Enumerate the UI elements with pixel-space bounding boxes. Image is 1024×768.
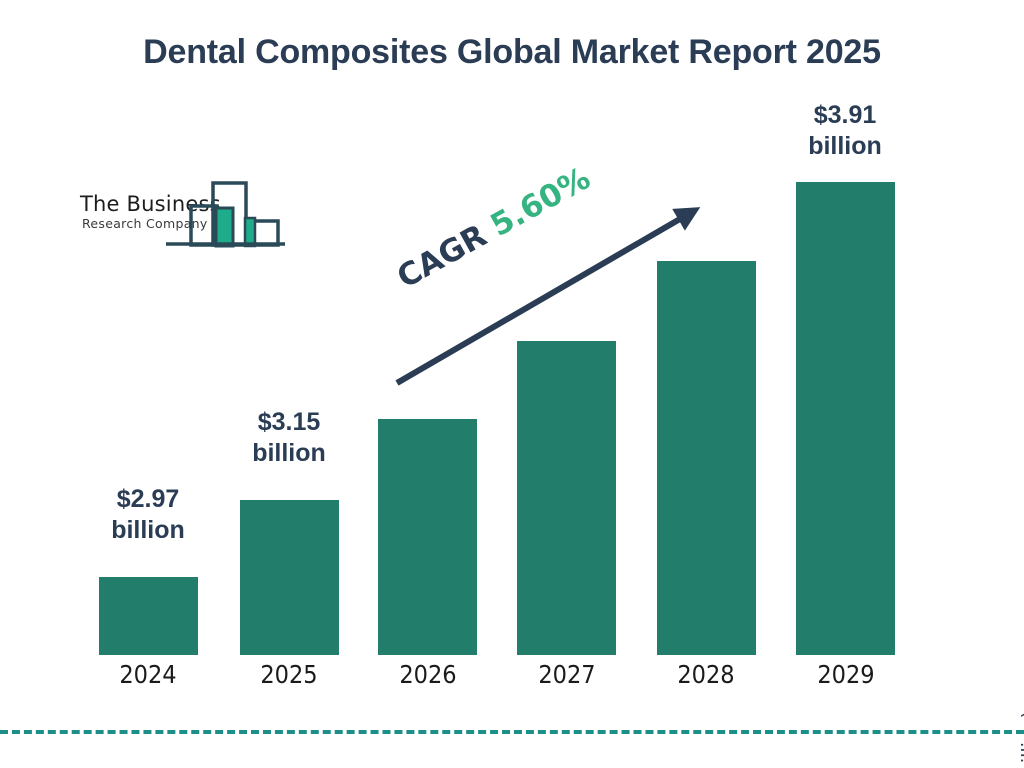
value-label-2025: $3.15 billion <box>224 407 354 468</box>
value-label-2024-amount: $2.97 <box>83 484 213 515</box>
bar-chart-plot: $2.97 billion $3.15 billion $3.91 billio… <box>0 0 1024 768</box>
xtick-2029: 2029 <box>786 660 906 689</box>
value-label-2025-amount: $3.15 <box>224 407 354 438</box>
bar-2025 <box>240 500 339 655</box>
bar-2026 <box>378 419 477 655</box>
bar-2028 <box>657 261 756 655</box>
value-label-2029-unit: billion <box>780 131 910 162</box>
xtick-2027: 2027 <box>507 660 627 689</box>
value-label-2029-amount: $3.91 <box>780 100 910 131</box>
chart-canvas: Dental Composites Global Market Report 2… <box>0 0 1024 768</box>
xtick-2028: 2028 <box>646 660 766 689</box>
cagr-annotation: CAGR 5.60% <box>391 160 596 295</box>
xtick-2026: 2026 <box>368 660 488 689</box>
cagr-label: CAGR <box>391 218 492 296</box>
bar-2029 <box>796 182 895 655</box>
y-axis-title: Market Size (in USD billion) <box>1018 660 1024 768</box>
value-label-2024: $2.97 billion <box>83 484 213 545</box>
bar-2027 <box>517 341 616 655</box>
xtick-2024: 2024 <box>88 660 208 689</box>
xtick-2025: 2025 <box>229 660 349 689</box>
value-label-2029: $3.91 billion <box>780 100 910 161</box>
bar-2024 <box>99 577 198 655</box>
value-label-2025-unit: billion <box>224 438 354 469</box>
footer-divider <box>0 730 1024 734</box>
value-label-2024-unit: billion <box>83 515 213 546</box>
cagr-value: 5.60% <box>485 160 597 244</box>
